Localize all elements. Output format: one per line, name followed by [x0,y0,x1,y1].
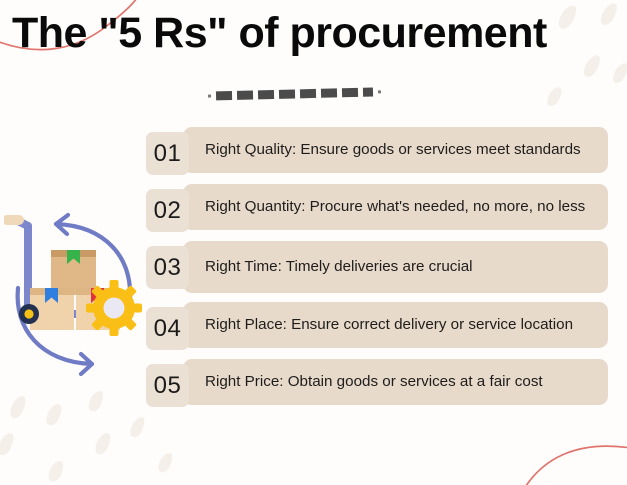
list-item-text: Right Time: Timely deliveries are crucia… [183,241,608,293]
petal-shape [46,459,66,484]
slide-canvas: The "5 Rs" of procurement [0,0,627,485]
petal-shape [8,394,29,421]
list-item-text: Right Price: Obtain goods or services at… [183,359,608,405]
divider-dash [216,90,232,99]
list-item-text: Right Quality: Ensure goods or services … [183,127,608,173]
list-item-number: 04 [146,307,189,350]
page-title: The "5 Rs" of procurement [12,8,622,59]
list-item-number: 05 [146,364,189,407]
five-rs-list: 01 Right Quality: Ensure goods or servic… [146,127,608,416]
petal-shape [156,451,175,475]
petal-shape [128,415,147,440]
divider-dash [279,89,295,98]
hand-truck-illustration [4,196,146,396]
list-item-number: 03 [146,246,189,289]
list-item-number: 02 [146,189,189,232]
list-item-number: 01 [146,132,189,175]
divider-cap-right [378,90,381,93]
divider-dash [258,89,274,98]
petal-shape [0,431,16,458]
list-item[interactable]: 01 Right Quality: Ensure goods or servic… [146,127,608,175]
dashed-divider [208,81,418,104]
petal-shape [44,402,64,428]
list-item[interactable]: 03 Right Time: Timely deliveries are cru… [146,241,608,293]
petal-shape [93,431,113,457]
divider-dash [237,90,253,99]
gear-icon [86,280,142,336]
petal-shape [610,61,627,86]
list-item-text: Right Quantity: Procure what's needed, n… [183,184,608,230]
list-item[interactable]: 02 Right Quantity: Procure what's needed… [146,184,608,232]
divider-cap-left [208,94,211,97]
divider-dash [321,88,337,97]
hand-truck-wheel [19,304,39,324]
divider-dash [342,87,358,96]
divider-dash [300,88,316,97]
divider-dash [363,87,373,96]
list-item[interactable]: 05 Right Price: Obtain goods or services… [146,359,608,407]
petal-shape [545,85,565,109]
list-item[interactable]: 04 Right Place: Ensure correct delivery … [146,302,608,350]
hand-truck-handle-grip [4,215,24,225]
red-accent-curve-bottom-right [515,432,627,485]
list-item-text: Right Place: Ensure correct delivery or … [183,302,608,348]
